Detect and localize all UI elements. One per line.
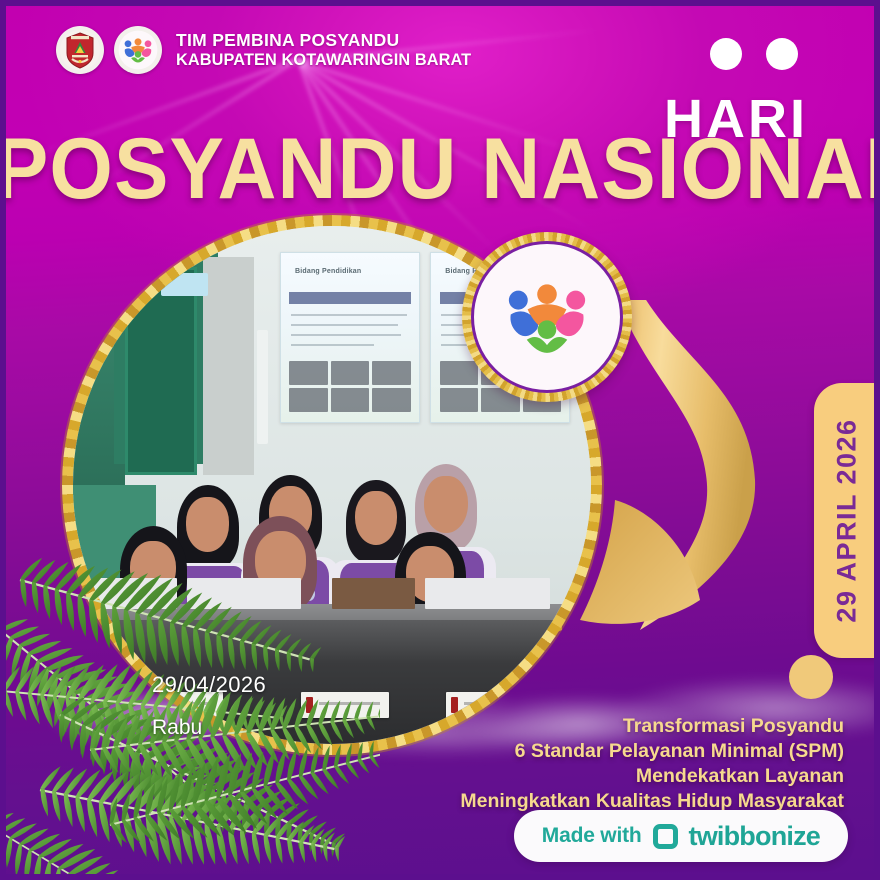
page-title-text: POSYANDU NASIONAL	[0, 126, 880, 212]
posyandu-figures-icon	[493, 263, 601, 371]
tagline: Transformasi Posyandu 6 Standar Pelayana…	[460, 714, 844, 814]
header-line-2: KABUPATEN KOTAWARINGIN BARAT	[176, 50, 471, 70]
tagline-line: 6 Standar Pelayanan Minimal (SPM)	[460, 739, 844, 764]
hari-dots	[710, 38, 798, 70]
posyandu-logo-badge-inner	[471, 241, 623, 393]
date-overlay: 29/04/2026 Rabu	[152, 672, 266, 740]
header-titles: TIM PEMBINA POSYANDU KABUPATEN KOTAWARIN…	[176, 31, 484, 70]
posyandu-logo-badge	[462, 232, 632, 402]
header-line-1: TIM PEMBINA POSYANDU	[176, 31, 484, 50]
overlay-day: Rabu	[152, 716, 266, 740]
overlay-date: 29/04/2026	[152, 672, 266, 698]
gold-dot-decoration	[789, 655, 833, 699]
wall-poster-title: Bidang Pendidikan	[295, 268, 361, 275]
posyandu-logo-icon	[114, 26, 162, 74]
twibbonize-brand-label: twibbonize	[689, 821, 820, 852]
dot-icon	[710, 38, 742, 70]
tagline-line: Mendekatkan Layanan	[460, 764, 844, 789]
dot-icon	[766, 38, 798, 70]
date-tab: 29 APRIL 2026	[814, 383, 880, 658]
twibbonize-square-icon	[653, 824, 678, 849]
poster-canvas: TIM PEMBINA POSYANDU KABUPATEN KOTAWARIN…	[0, 0, 880, 880]
date-tab-text: 29 APRIL 2026	[832, 418, 863, 622]
wall-poster: Bidang Pendidikan	[280, 252, 420, 423]
regency-emblem-icon	[56, 26, 104, 74]
tagline-line: Transformasi Posyandu	[460, 714, 844, 739]
page-title: POSYANDU NASIONAL	[20, 131, 860, 208]
twibbonize-made-with-label: Made with	[542, 824, 642, 848]
twibbonize-badge[interactable]: Made with twibbonize	[514, 810, 848, 862]
header: TIM PEMBINA POSYANDU KABUPATEN KOTAWARIN…	[56, 26, 484, 74]
